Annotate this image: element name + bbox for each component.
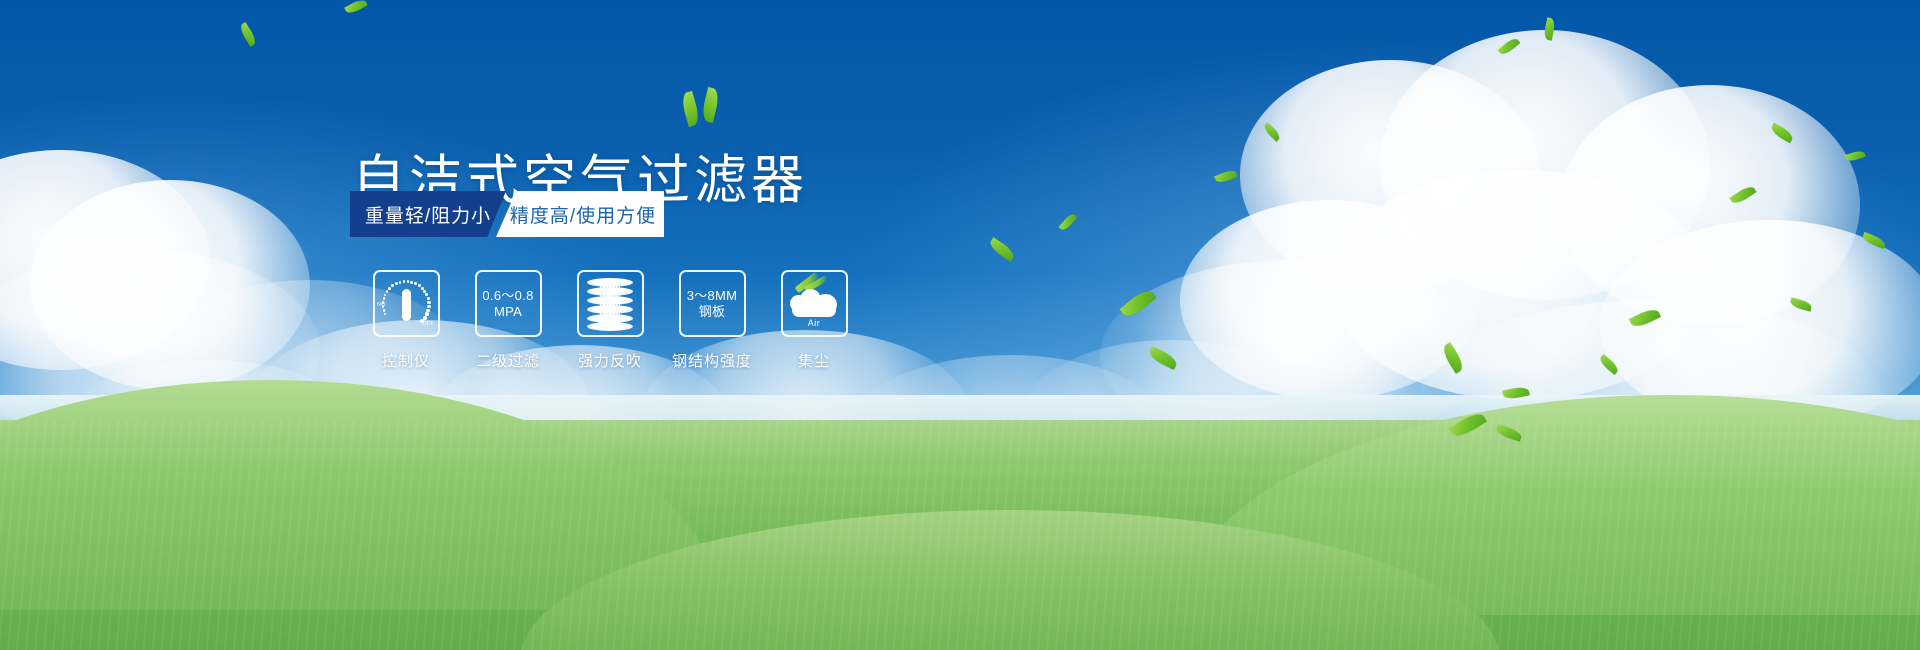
dial-tick (382, 301, 384, 303)
cartridge-icon (587, 278, 633, 330)
dial-tick (388, 287, 391, 290)
feature-list: NO OFF 控制仪 0.6〜0.8 MPA 二级过滤 (355, 270, 865, 371)
dial-tick (395, 282, 398, 285)
dial-tick (420, 319, 424, 323)
dial-tick (427, 305, 430, 308)
dial-tick (425, 293, 428, 296)
feature-item[interactable]: 0.6〜0.8 MPA 二级过滤 (457, 270, 559, 371)
badge-primary-label: 重量轻/阻力小 (365, 201, 491, 228)
feature-icon-box: 0.6〜0.8 MPA (475, 270, 542, 337)
dial-tick (407, 280, 410, 283)
tagline-badges: 重量轻/阻力小 精度高/使用方便 (350, 191, 664, 237)
badge-primary[interactable]: 重量轻/阻力小 (350, 191, 506, 237)
pressure-icon: 0.6〜0.8 MPA (482, 288, 533, 319)
dial-tick (383, 309, 385, 311)
cartridge-ring (587, 305, 633, 314)
cloud-puff (792, 303, 836, 317)
dial-tick (399, 281, 402, 284)
feature-box-line2: 钢板 (687, 304, 738, 319)
feature-box-line1: 3〜8MM (687, 288, 738, 303)
dial-tick (382, 305, 384, 307)
cartridge-ring (587, 287, 633, 296)
feature-item[interactable]: 3〜8MM 钢板 钢结构强度 (661, 270, 763, 371)
dial-needle (402, 289, 411, 321)
steel-icon: 3〜8MM 钢板 (687, 288, 738, 319)
feature-item[interactable]: NO OFF 控制仪 (355, 270, 457, 371)
dial-icon: NO OFF (378, 276, 434, 332)
feature-icon-box: Air (781, 270, 848, 337)
dial-tick (414, 282, 417, 285)
feature-label: 控制仪 (382, 350, 430, 371)
cartridge-ring (587, 296, 633, 305)
feature-item[interactable]: 强力反吹 (559, 270, 661, 371)
badge-secondary-label: 精度高/使用方便 (510, 201, 656, 228)
badge-secondary[interactable]: 精度高/使用方便 (496, 191, 664, 237)
dial-tick (383, 297, 385, 299)
dial-tick (410, 281, 413, 284)
dial-tick (391, 284, 394, 287)
dial-tick (384, 313, 386, 315)
dial-tick (427, 301, 430, 304)
feature-label: 钢结构强度 (672, 350, 752, 371)
feature-icon-box: NO OFF (373, 270, 440, 337)
cloud-air-label: Air (788, 318, 840, 328)
dial-tick (384, 294, 387, 297)
feature-label: 集尘 (798, 350, 830, 371)
feature-label: 二级过滤 (476, 350, 540, 371)
feature-icon-box: 3〜8MM 钢板 (679, 270, 746, 337)
feature-box-line1: 0.6〜0.8 (482, 288, 533, 303)
cartridge-ring (587, 278, 633, 287)
hero-content: 自洁式空气过滤器 重量轻/阻力小 精度高/使用方便 NO OFF 控制仪 (0, 0, 1920, 650)
dial-tick (386, 290, 389, 293)
hero-banner: 自洁式空气过滤器 重量轻/阻力小 精度高/使用方便 NO OFF 控制仪 (0, 0, 1920, 650)
cloud-air-icon: Air (788, 281, 840, 327)
dial-tick (403, 280, 406, 283)
feature-label: 强力反吹 (578, 350, 642, 371)
feature-item[interactable]: Air 集尘 (763, 270, 865, 371)
dial-tick (427, 297, 430, 300)
cartridge-ring (587, 322, 633, 331)
sprout-icon (682, 88, 726, 130)
feature-icon-box (577, 270, 644, 337)
feature-box-line2: MPA (482, 304, 533, 319)
